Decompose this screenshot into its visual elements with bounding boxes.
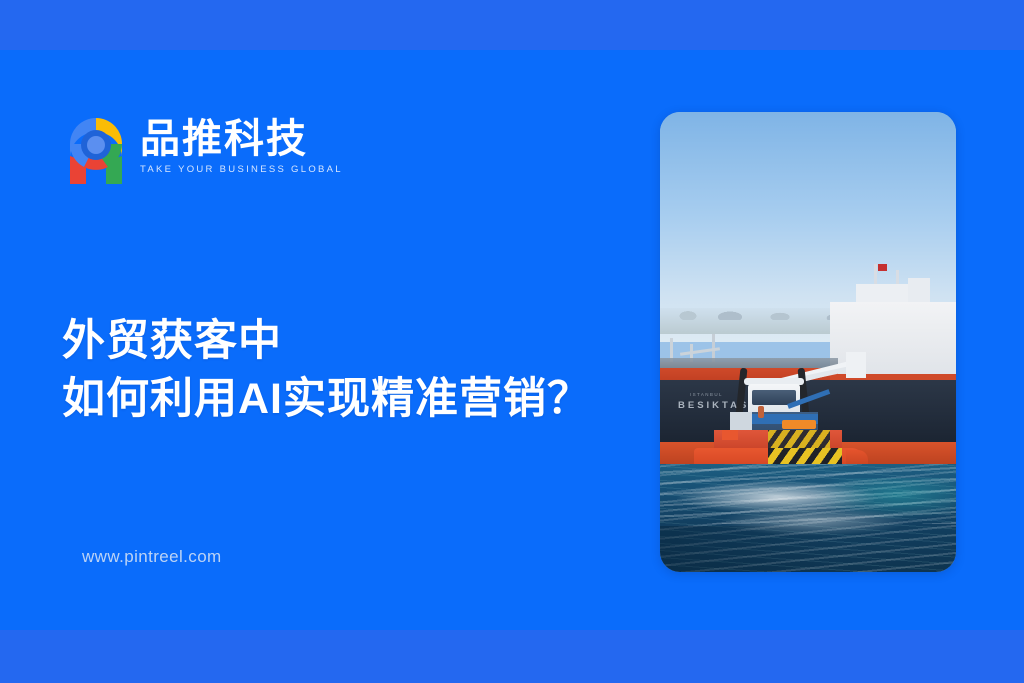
- poster-canvas: 品推科技 TAKE YOUR BUSINESS GLOBAL 外贸获客中 如何利…: [0, 0, 1024, 683]
- headline-line-1: 外贸获客中: [62, 312, 662, 370]
- brand-tagline: TAKE YOUR BUSINESS GLOBAL: [140, 164, 343, 175]
- photo-tug-flag: [722, 430, 738, 440]
- headline-line-2: 如何利用AI实现精准营销？: [62, 370, 662, 428]
- background-band-bottom: [0, 630, 1024, 683]
- photo-tanker-flag: [878, 264, 887, 271]
- headline-block: 外贸获客中 如何利用AI实现精准营销？: [62, 312, 662, 428]
- logo-mark-svg: [64, 112, 128, 184]
- photo-card-tugboat: ISTANBUL BESIKTAS: [660, 112, 956, 572]
- photo-tug-hazard-upper: [768, 430, 830, 450]
- brand-logo[interactable]: 品推科技 TAKE YOUR BUSINESS GLOBAL: [64, 112, 343, 184]
- brand-logo-text: 品推科技 TAKE YOUR BUSINESS GLOBAL: [140, 112, 343, 175]
- photo-boat-wake-2: [720, 506, 910, 536]
- pintreel-logo-mark: [64, 112, 128, 184]
- photo-tug-crew: [758, 406, 764, 418]
- brand-name: 品推科技: [140, 118, 343, 160]
- site-url[interactable]: www.pintreel.com: [82, 547, 222, 567]
- photo-hull-name-small: ISTANBUL: [690, 392, 723, 397]
- photo-tug-equipment: [782, 420, 816, 429]
- photo-deck-crane-base: [846, 352, 866, 378]
- background-band-top: [0, 0, 1024, 50]
